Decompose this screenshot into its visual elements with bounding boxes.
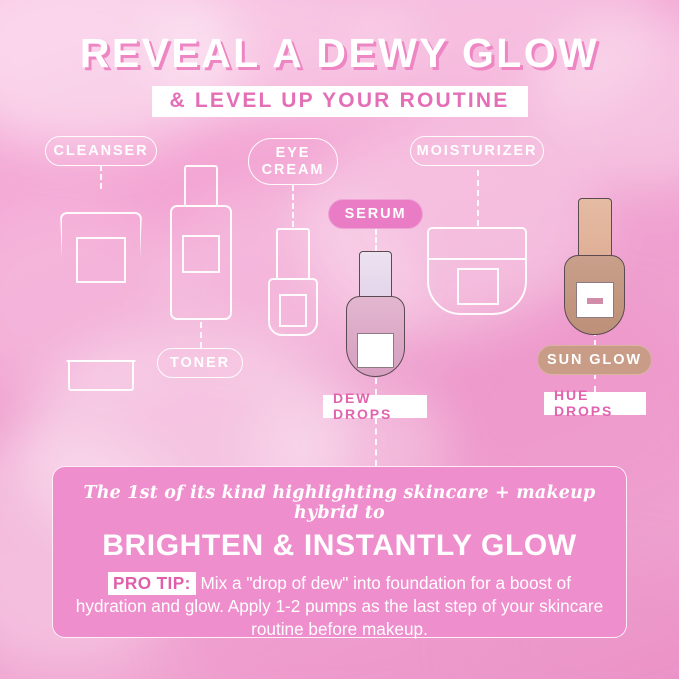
toner-cap <box>184 165 218 207</box>
page-subtitle: & LEVEL UP YOUR ROUTINE <box>170 89 510 113</box>
connector-panel <box>375 418 377 466</box>
product-tag-dew-drops[interactable]: DEW DROPS <box>323 395 427 418</box>
product-eye-cream <box>268 228 318 336</box>
product-cleanser <box>60 212 142 392</box>
step-label-moisturizer[interactable]: MOISTURIZER <box>410 136 544 166</box>
connector-eye-cream <box>292 185 294 227</box>
product-hue-drops <box>556 198 633 324</box>
step-label-eye-cream-line2: CREAM <box>262 162 325 179</box>
page-title: REVEAL A DEWY GLOW <box>0 30 679 77</box>
step-label-eye-cream-line1: EYE <box>276 145 311 162</box>
cleanser-cap <box>68 360 134 391</box>
product-moisturizer <box>427 227 527 315</box>
subtitle-band: & LEVEL UP YOUR ROUTINE <box>152 86 528 117</box>
infographic-canvas: REVEAL A DEWY GLOW & LEVEL UP YOUR ROUTI… <box>0 0 679 679</box>
cleanser-tube-body <box>60 212 142 362</box>
step-label-toner[interactable]: TONER <box>157 348 243 378</box>
step-label-moisturizer-text: MOISTURIZER <box>417 143 538 160</box>
product-tag-dew-drops-text: DEW DROPS <box>333 390 417 422</box>
moisturizer-label <box>457 268 499 305</box>
cleanser-label <box>76 237 126 283</box>
step-label-serum-text: SERUM <box>345 206 407 223</box>
panel-protip: PRO TIP: Mix a "drop of dew" into founda… <box>75 572 604 641</box>
connector-cleanser <box>100 165 102 189</box>
eye-cream-cap <box>276 228 310 280</box>
panel-script-line: The 1st of its kind highlighting skincar… <box>75 483 604 523</box>
dew-drops-cap <box>359 251 392 297</box>
step-label-cleanser[interactable]: CLEANSER <box>45 136 157 166</box>
connector-moisturizer <box>477 170 479 226</box>
connector-serum <box>375 229 377 251</box>
step-label-sun-glow[interactable]: SUN GLOW <box>537 345 652 375</box>
toner-label <box>182 235 220 273</box>
step-label-sun-glow-text: SUN GLOW <box>547 352 642 369</box>
product-tag-hue-drops-text: HUE DROPS <box>554 387 636 419</box>
step-label-toner-text: TONER <box>170 355 230 372</box>
step-label-eye-cream[interactable]: EYE CREAM <box>248 138 338 185</box>
moisturizer-lid-line <box>429 258 525 260</box>
hue-drops-cap <box>578 198 612 256</box>
info-panel: The 1st of its kind highlighting skincar… <box>52 466 627 638</box>
panel-headline: BRIGHTEN & INSTANTLY GLOW <box>75 529 604 563</box>
eye-cream-label <box>279 294 307 327</box>
header: REVEAL A DEWY GLOW & LEVEL UP YOUR ROUTI… <box>0 30 679 117</box>
hue-drops-label-dash <box>587 298 603 304</box>
step-label-cleanser-text: CLEANSER <box>54 143 149 160</box>
connector-toner <box>200 322 202 348</box>
product-toner <box>170 165 232 320</box>
dew-drops-label <box>357 333 394 368</box>
protip-badge: PRO TIP: <box>108 572 196 595</box>
product-tag-hue-drops[interactable]: HUE DROPS <box>544 392 646 415</box>
step-label-serum[interactable]: SERUM <box>328 199 423 229</box>
product-dew-drops <box>337 251 414 377</box>
